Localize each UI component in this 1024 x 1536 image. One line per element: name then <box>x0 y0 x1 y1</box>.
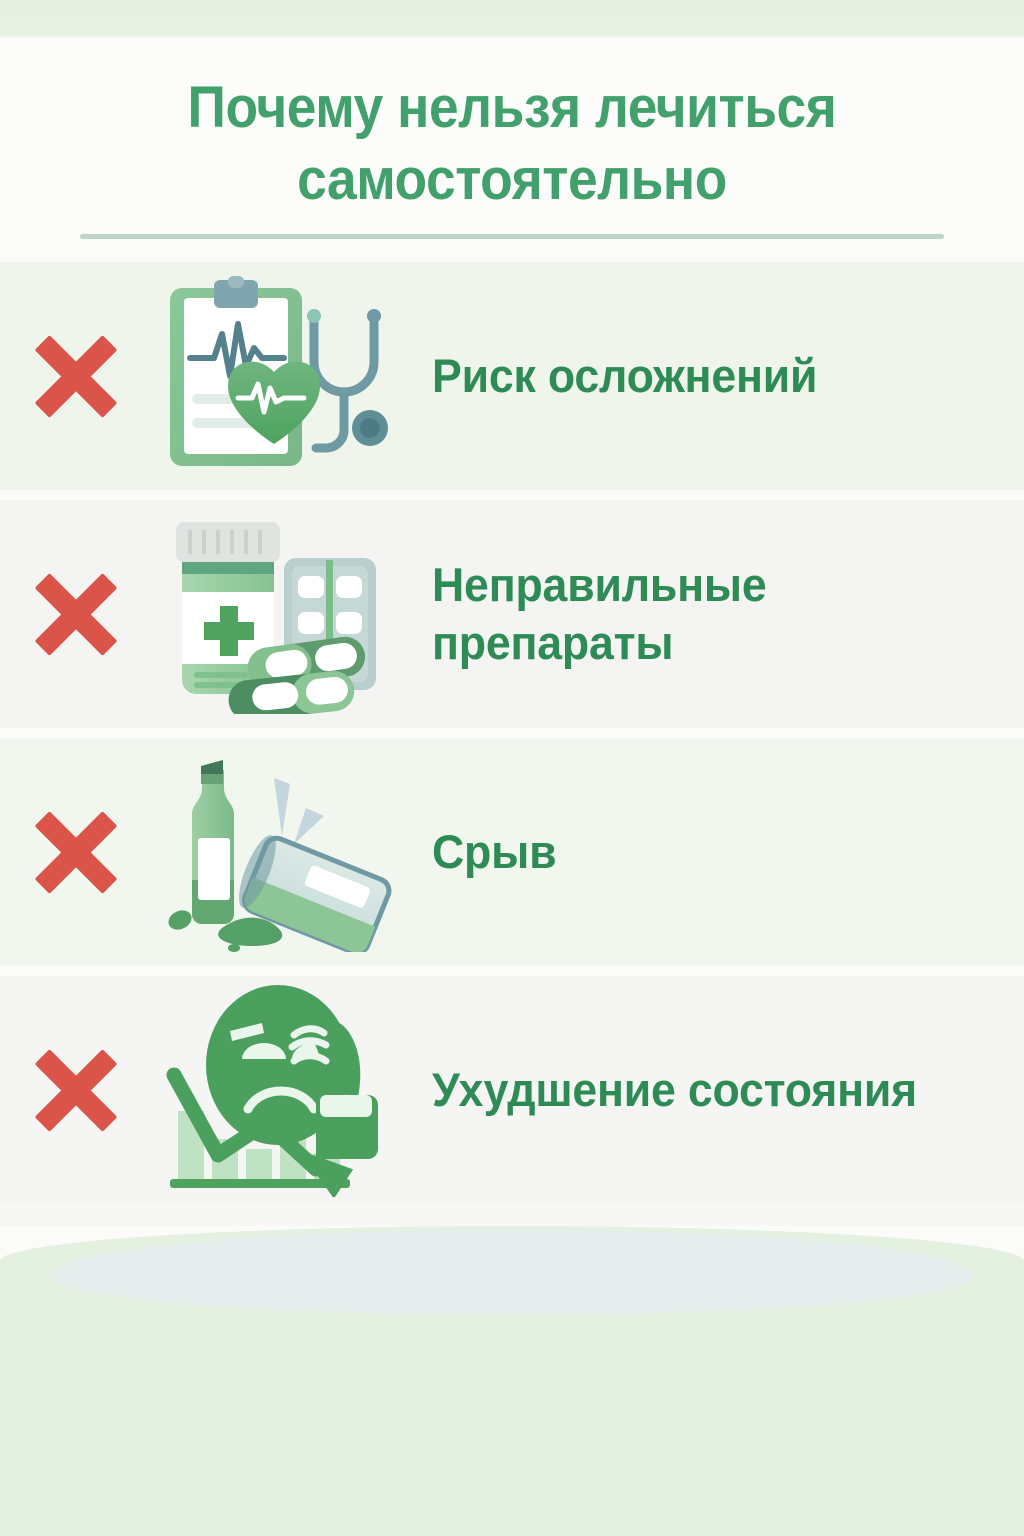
red-cross-icon <box>35 573 117 655</box>
row-4-icon-cell <box>152 990 404 1190</box>
page-title: Почему нельзя лечиться самостоятельно <box>41 72 983 216</box>
row-2-icon-cell <box>152 514 404 714</box>
red-cross-icon <box>35 811 117 893</box>
row-1-icon-cell <box>152 276 404 476</box>
list-item: Риск осложнений <box>0 262 1024 490</box>
row-3-mark-cell <box>0 811 152 893</box>
row-2-mark-cell <box>0 573 152 655</box>
list-item-label: Ухудшение состояния <box>432 1061 966 1119</box>
sad-face-declining-chart-icon <box>156 983 400 1197</box>
title-divider <box>80 234 944 239</box>
red-cross-icon <box>35 335 117 417</box>
bottom-lens-shape <box>52 1230 972 1314</box>
poster-header: Почему нельзя лечиться самостоятельно <box>0 0 1024 262</box>
list-item-label: Срыв <box>432 823 966 881</box>
infographic-poster: Почему нельзя лечиться самостоятельно <box>0 0 1024 1536</box>
row-4-label-cell: Ухудшение состояния <box>404 1061 1024 1119</box>
row-3-icon-cell <box>152 752 404 952</box>
pill-bottle-blister-capsules-icon <box>156 514 400 714</box>
list-item: Неправильные препараты <box>0 500 1024 728</box>
row-4-mark-cell <box>0 1049 152 1131</box>
row-1-mark-cell <box>0 335 152 417</box>
row-1-label-cell: Риск осложнений <box>404 347 1024 405</box>
list-item-label: Неправильные препараты <box>432 556 966 672</box>
list-item-label: Риск осложнений <box>432 347 966 405</box>
bottle-spilled-glass-icon <box>156 752 400 952</box>
list-item: Ухудшение состояния <box>0 976 1024 1204</box>
red-cross-icon <box>35 1049 117 1131</box>
clipboard-ecg-heart-stethoscope-icon <box>156 276 400 476</box>
row-3-label-cell: Срыв <box>404 823 1024 881</box>
reason-list: Риск осложнений <box>0 262 1024 1204</box>
row-2-label-cell: Неправильные препараты <box>404 556 1024 672</box>
list-item: Срыв <box>0 738 1024 966</box>
